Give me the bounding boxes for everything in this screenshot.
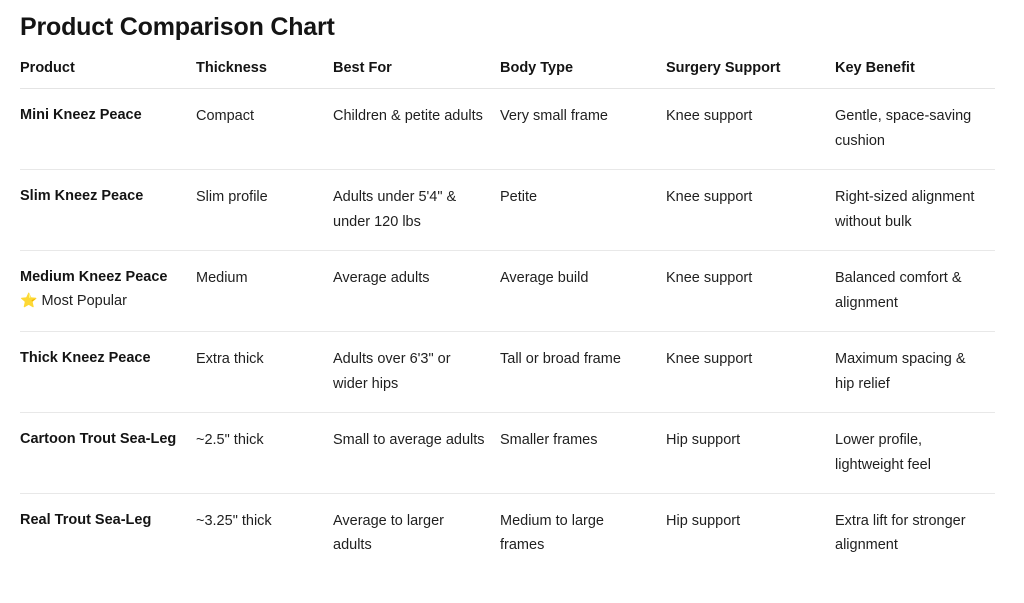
cell-body-type: Tall or broad frame xyxy=(500,331,666,412)
cell-thickness: Compact xyxy=(196,89,333,170)
cell-key-benefit: Maximum spacing & hip relief xyxy=(835,331,995,412)
cell-body-type: Medium to large frames xyxy=(500,493,666,573)
cell-thickness: ~2.5" thick xyxy=(196,412,333,493)
cell-best-for: Average adults xyxy=(333,250,500,331)
cell-surgery-support: Knee support xyxy=(666,170,835,251)
cell-thickness: Medium xyxy=(196,250,333,331)
table-row: Thick Kneez PeaceExtra thickAdults over … xyxy=(20,331,995,412)
column-header-thickness: Thickness xyxy=(196,59,333,89)
cell-product-name: Mini Kneez Peace xyxy=(20,89,196,170)
cell-best-for: Average to larger adults xyxy=(333,493,500,573)
product-name-label: Medium Kneez Peace xyxy=(20,269,167,285)
column-header-best-for: Best For xyxy=(333,59,500,89)
cell-key-benefit: Right-sized alignment without bulk xyxy=(835,170,995,251)
table-row: Cartoon Trout Sea-Leg~2.5" thickSmall to… xyxy=(20,412,995,493)
cell-best-for: Children & petite adults xyxy=(333,89,500,170)
column-header-product: Product xyxy=(20,59,196,89)
table-body: Mini Kneez PeaceCompactChildren & petite… xyxy=(20,89,995,574)
table-row: Medium Kneez Peace ⭐ Most PopularMediumA… xyxy=(20,250,995,331)
cell-product-name: Slim Kneez Peace xyxy=(20,170,196,251)
product-name-label: Cartoon Trout Sea-Leg xyxy=(20,431,176,447)
table-row: Real Trout Sea-Leg~3.25" thickAverage to… xyxy=(20,493,995,573)
star-icon: ⭐ xyxy=(20,292,37,308)
cell-body-type: Very small frame xyxy=(500,89,666,170)
cell-thickness: Extra thick xyxy=(196,331,333,412)
product-comparison-table: Product Thickness Best For Body Type Sur… xyxy=(20,59,995,573)
table-row: Mini Kneez PeaceCompactChildren & petite… xyxy=(20,89,995,170)
product-comparison-page: Product Comparison Chart Product Thickne… xyxy=(0,0,1024,603)
cell-surgery-support: Knee support xyxy=(666,89,835,170)
product-name-label: Mini Kneez Peace xyxy=(20,107,142,123)
table-row: Slim Kneez PeaceSlim profileAdults under… xyxy=(20,170,995,251)
product-name-label: Real Trout Sea-Leg xyxy=(20,512,151,528)
column-header-surgery-support: Surgery Support xyxy=(666,59,835,89)
cell-body-type: Smaller frames xyxy=(500,412,666,493)
cell-surgery-support: Knee support xyxy=(666,331,835,412)
page-title: Product Comparison Chart xyxy=(20,0,1004,42)
cell-best-for: Adults under 5'4" & under 120 lbs xyxy=(333,170,500,251)
product-name-label: Slim Kneez Peace xyxy=(20,188,143,204)
cell-product-name: Cartoon Trout Sea-Leg xyxy=(20,412,196,493)
cell-surgery-support: Knee support xyxy=(666,250,835,331)
cell-product-name: Real Trout Sea-Leg xyxy=(20,493,196,573)
cell-product-name: Medium Kneez Peace ⭐ Most Popular xyxy=(20,250,196,331)
cell-body-type: Petite xyxy=(500,170,666,251)
cell-surgery-support: Hip support xyxy=(666,412,835,493)
cell-best-for: Adults over 6'3" or wider hips xyxy=(333,331,500,412)
cell-product-name: Thick Kneez Peace xyxy=(20,331,196,412)
cell-key-benefit: Lower profile, lightweight feel xyxy=(835,412,995,493)
column-header-key-benefit: Key Benefit xyxy=(835,59,995,89)
product-name-label: Thick Kneez Peace xyxy=(20,350,151,366)
table-header-row: Product Thickness Best For Body Type Sur… xyxy=(20,59,995,89)
table-header: Product Thickness Best For Body Type Sur… xyxy=(20,59,995,89)
cell-key-benefit: Balanced comfort & alignment xyxy=(835,250,995,331)
cell-thickness: ~3.25" thick xyxy=(196,493,333,573)
most-popular-badge: Most Popular xyxy=(41,293,126,309)
cell-key-benefit: Gentle, space-saving cushion xyxy=(835,89,995,170)
cell-key-benefit: Extra lift for stronger alignment xyxy=(835,493,995,573)
cell-surgery-support: Hip support xyxy=(666,493,835,573)
cell-best-for: Small to average adults xyxy=(333,412,500,493)
cell-thickness: Slim profile xyxy=(196,170,333,251)
column-header-body-type: Body Type xyxy=(500,59,666,89)
cell-body-type: Average build xyxy=(500,250,666,331)
